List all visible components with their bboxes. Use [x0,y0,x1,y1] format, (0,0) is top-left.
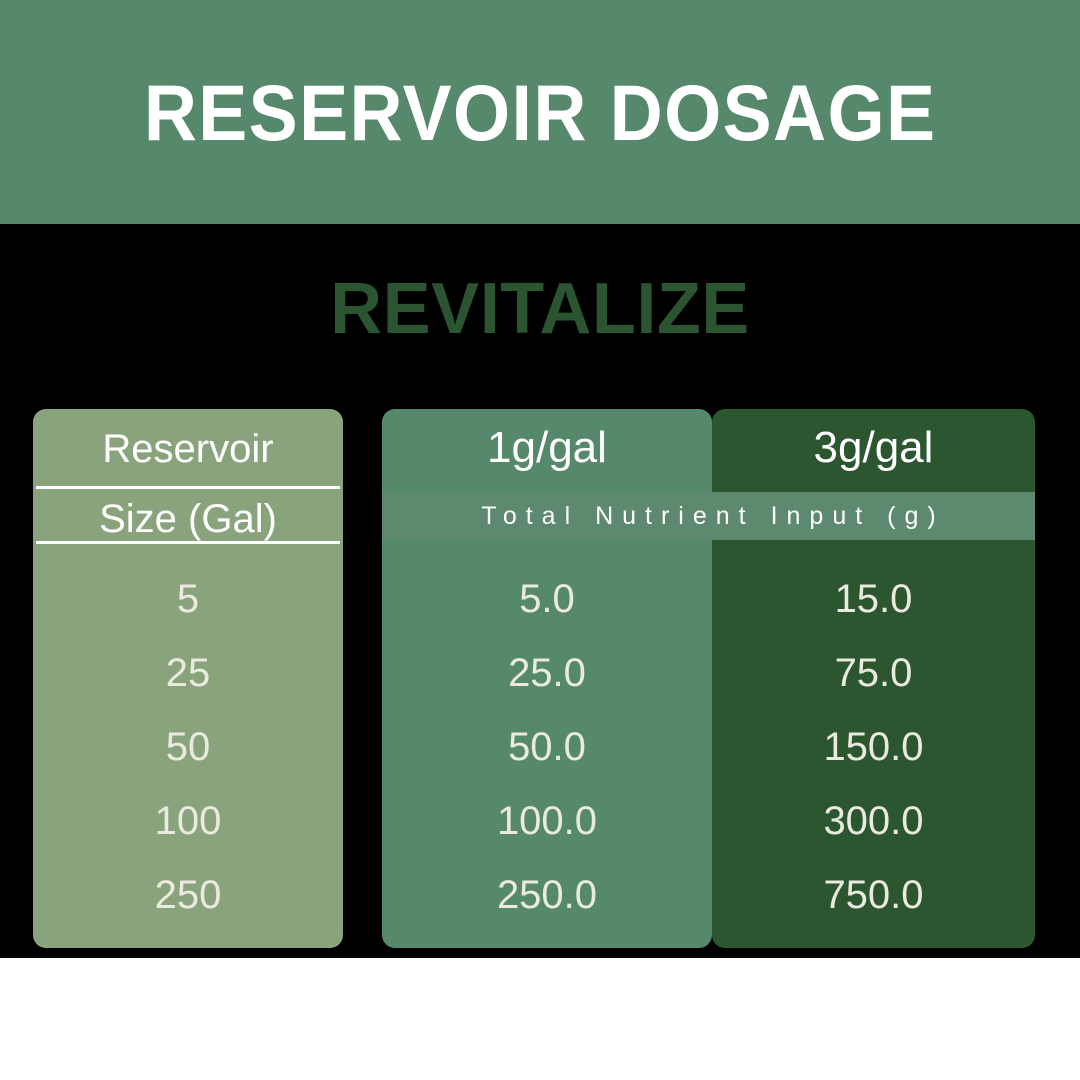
column-rate-3g: 3g/gal 15.0 75.0 150.0 300.0 750.0 [712,409,1035,948]
table-cell-dose-1g: 50.0 [382,727,712,767]
table-cell-dose-1g: 5.0 [382,579,712,619]
table-cell-dose-1g: 100.0 [382,801,712,841]
table-cell-dose-3g: 150.0 [712,727,1035,767]
column-header-rate-1g: 1g/gal [382,423,712,474]
table-cell-dose-3g: 75.0 [712,653,1035,693]
table-cell-size: 250 [33,875,343,915]
column-group-band: Total Nutrient Input (g) [382,492,1035,540]
table-cell-size: 25 [33,653,343,693]
table-cell-dose-3g: 300.0 [712,801,1035,841]
table-cell-dose-1g: 250.0 [382,875,712,915]
column-header-line-2: Size (Gal) [33,496,343,542]
table-cell-dose-3g: 15.0 [712,579,1035,619]
footer-strip [0,958,1080,1080]
table-cell-dose-1g: 25.0 [382,653,712,693]
column-reservoir-size-header: Reservoir Size (Gal) [33,409,343,542]
column-header-rate-3g: 3g/gal [712,423,1035,474]
page-title: RESERVOIR DOSAGE [144,73,937,152]
header-divider-top [36,486,340,489]
table-cell-size: 50 [33,727,343,767]
column-group-label: Total Nutrient Input (g) [472,504,944,529]
table-cell-dose-3g: 750.0 [712,875,1035,915]
column-reservoir-size: Reservoir Size (Gal) 5 25 50 100 250 [33,409,343,948]
header-banner: RESERVOIR DOSAGE [0,0,1080,224]
header-divider-bottom [36,541,340,544]
column-header-line-1: Reservoir [33,426,343,472]
column-rate-1g: 1g/gal 5.0 25.0 50.0 100.0 250.0 [382,409,712,948]
table-cell-size: 100 [33,801,343,841]
dosage-table: Reservoir Size (Gal) 5 25 50 100 250 1g/… [33,409,1035,948]
table-cell-size: 5 [33,579,343,619]
product-name: REVITALIZE [0,273,1080,345]
dosage-infographic: RESERVOIR DOSAGE REVITALIZE Reservoir Si… [0,0,1080,1080]
